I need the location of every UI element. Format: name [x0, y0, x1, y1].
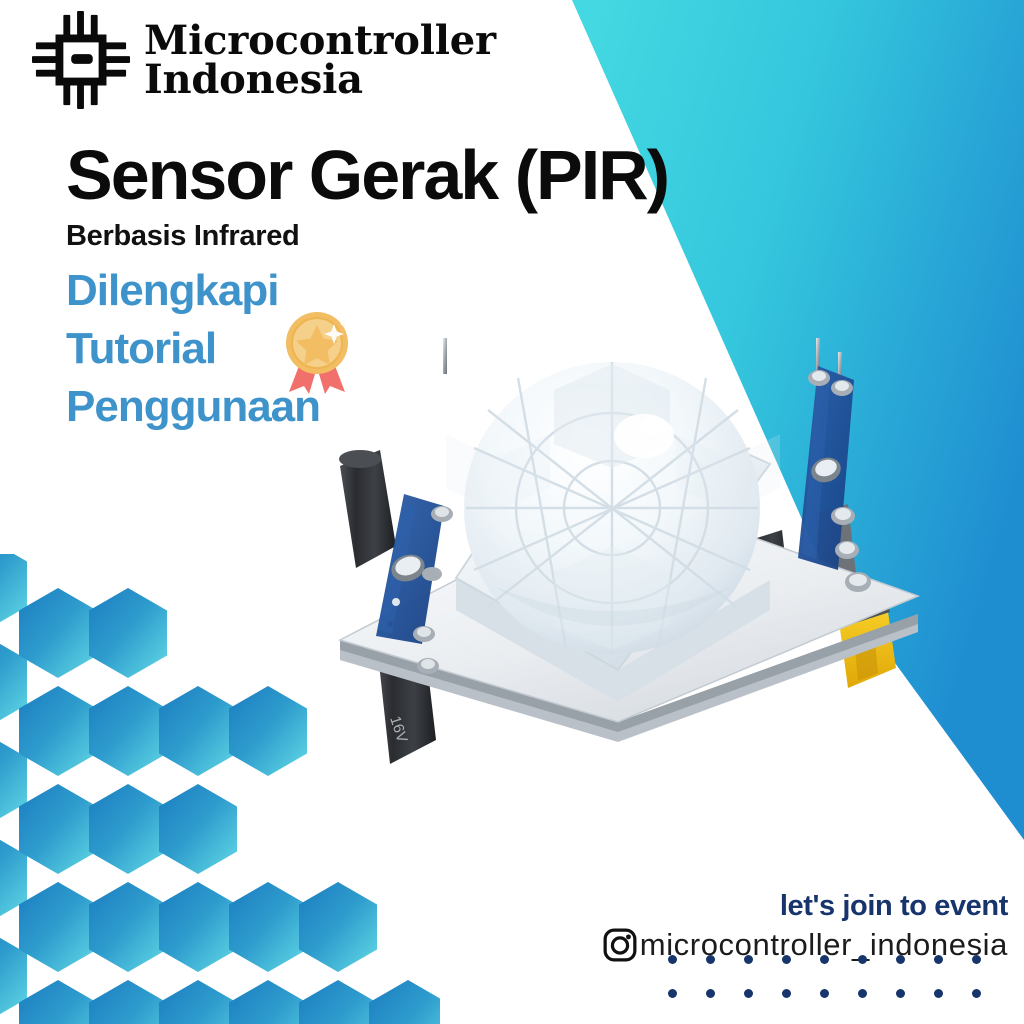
dot — [668, 989, 677, 998]
brand-logo: Microcontroller Indonesia — [32, 10, 496, 110]
gold-medal-icon — [278, 306, 356, 396]
page-subtitle: Berbasis Infrared — [66, 220, 668, 253]
brand-line-1: Microcontroller — [144, 21, 496, 60]
cta-heading: let's join to event — [602, 890, 1008, 923]
dot — [706, 989, 715, 998]
instagram-icon[interactable] — [602, 927, 638, 963]
dot — [744, 955, 753, 964]
dot — [858, 955, 867, 964]
page-title: Sensor Gerak (PIR) — [66, 140, 668, 210]
cta-block: let's join to event microcontroller_indo… — [602, 890, 1008, 963]
poster-canvas: Microcontroller Indonesia Sensor Gerak (… — [0, 0, 1024, 1024]
dot — [820, 989, 829, 998]
pir-sensor-product-image: 16V HOE 201 201 — [318, 318, 938, 818]
dot — [972, 955, 981, 964]
dot — [782, 955, 791, 964]
dot — [706, 955, 715, 964]
brand-line-2: Indonesia — [144, 60, 496, 99]
dot — [744, 989, 753, 998]
microchip-icon — [32, 10, 130, 110]
dot — [858, 989, 867, 998]
dot-grid-decoration — [668, 955, 1010, 1023]
dot — [896, 955, 905, 964]
dot — [820, 955, 829, 964]
dot — [934, 989, 943, 998]
dot — [668, 955, 677, 964]
dot — [934, 955, 943, 964]
dot — [972, 989, 981, 998]
dot — [782, 989, 791, 998]
headline-block: Sensor Gerak (PIR) Berbasis Infrared — [66, 140, 668, 253]
dot — [896, 989, 905, 998]
